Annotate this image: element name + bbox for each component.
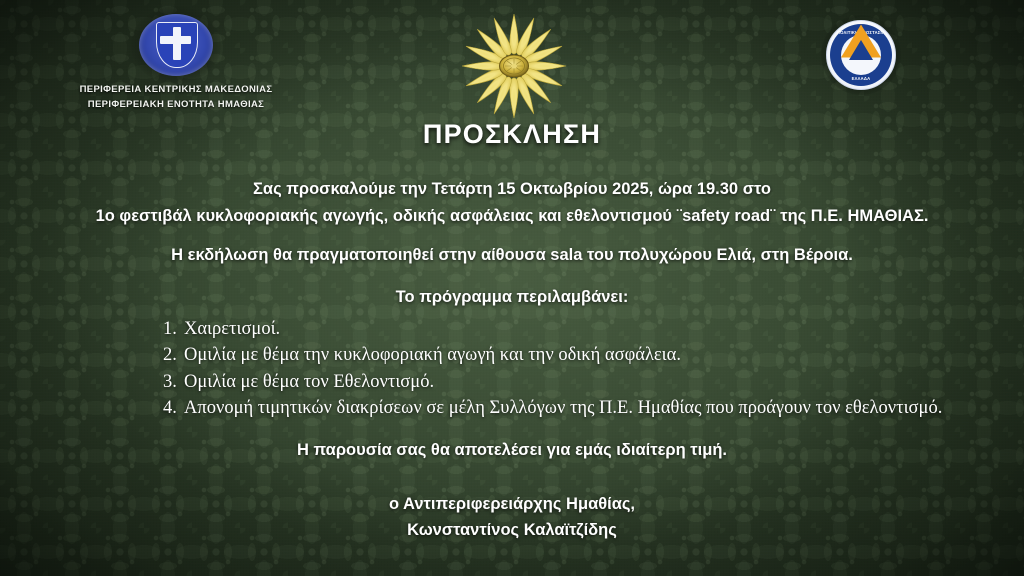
page-title: ΠΡΟΣΚΛΗΣΗ	[0, 119, 1024, 150]
signature-block: ο Αντιπεριφερειάρχης Ημαθίας, Κωνσταντίν…	[0, 491, 1024, 543]
civil-protection-triangle-inner	[849, 40, 873, 60]
list-item-label: Ομιλία με θέμα την κυκλοφοριακή αγωγή κα…	[184, 342, 964, 368]
list-item-number: 3.	[163, 369, 184, 395]
civil-protection-ring: ΠΟΛΙΤΙΚΗ ΠΡΟΣΤΑΣΙΑ ΕΛΛΑΔΑ	[830, 24, 892, 86]
list-item-label: Χαιρετισμοί.	[184, 316, 964, 342]
vergina-sun-icon	[443, 13, 585, 119]
honour-paragraph: Η παρουσία σας θα αποτελέσει για εμάς ιδ…	[0, 441, 1024, 460]
list-item-label: Ομιλία με θέμα τον Εθελοντισμό.	[184, 369, 964, 395]
list-item-label: Απονομή τιμητικών διακρίσεων σε μέλη Συλ…	[184, 395, 964, 421]
list-item-number: 2.	[163, 342, 184, 368]
signature-role: ο Αντιπεριφερειάρχης Ημαθίας,	[0, 491, 1024, 517]
region-name-line1: ΠΕΡΙΦΕΡΕΙΑ ΚΕΝΤΡΙΚΗΣ ΜΑΚΕΔΟΝΙΑΣ	[76, 83, 276, 98]
civil-protection-disc: ΠΟΛΙΤΙΚΗ ΠΡΟΣΤΑΣΙΑ ΕΛΛΑΔΑ	[826, 20, 896, 90]
list-item: 1. Χαιρετισμοί.	[163, 316, 964, 342]
venue-paragraph: Η εκδήλωση θα πραγματοποιηθεί στην αίθου…	[0, 246, 1024, 265]
civil-protection-emblem-icon: ΠΟΛΙΤΙΚΗ ΠΡΟΣΤΑΣΙΑ ΕΛΛΑΔΑ	[826, 20, 896, 90]
region-logo-block: ΠΕΡΙΦΕΡΕΙΑ ΚΕΝΤΡΙΚΗΣ ΜΑΚΕΔΟΝΙΑΣ ΠΕΡΙΦΕΡΕ…	[76, 12, 276, 112]
list-item-number: 4.	[163, 395, 184, 421]
list-item-number: 1.	[163, 316, 184, 342]
list-item: 3. Ομιλία με θέμα τον Εθελοντισμό.	[163, 369, 964, 395]
list-item: 4. Απονομή τιμητικών διακρίσεων σε μέλη …	[163, 395, 964, 421]
region-logo-text: ΠΕΡΙΦΕΡΕΙΑ ΚΕΝΤΡΙΚΗΣ ΜΑΚΕΔΟΝΙΑΣ ΠΕΡΙΦΕΡΕ…	[76, 83, 276, 112]
invitation-line-2: 1ο φεστιβάλ κυκλοφοριακής αγωγής, οδικής…	[0, 203, 1024, 230]
programme-heading: Το πρόγραμμα περιλαμβάνει:	[0, 288, 1024, 307]
list-item: 2. Ομιλία με θέμα την κυκλοφοριακή αγωγή…	[163, 342, 964, 368]
invitation-line-1: Σας προσκαλούμε την Τετάρτη 15 Οκτωβρίου…	[0, 176, 1024, 203]
greek-coat-of-arms-icon	[137, 12, 215, 78]
region-name-line2: ΠΕΡΙΦΕΡΕΙΑΚΗ ΕΝΟΤΗΤΑ ΗΜΑΘΙΑΣ	[76, 98, 276, 113]
civil-protection-text-bottom: ΕΛΛΑΔΑ	[830, 76, 892, 81]
invitation-paragraph: Σας προσκαλούμε την Τετάρτη 15 Οκτωβρίου…	[0, 176, 1024, 229]
programme-list: 1. Χαιρετισμοί. 2. Ομιλία με θέμα την κυ…	[163, 316, 964, 422]
invitation-slide: ΠΕΡΙΦΕΡΕΙΑ ΚΕΝΤΡΙΚΗΣ ΜΑΚΕΔΟΝΙΑΣ ΠΕΡΙΦΕΡΕ…	[0, 0, 1024, 576]
signature-name: Κωνσταντίνος Καλαϊτζίδης	[0, 517, 1024, 543]
